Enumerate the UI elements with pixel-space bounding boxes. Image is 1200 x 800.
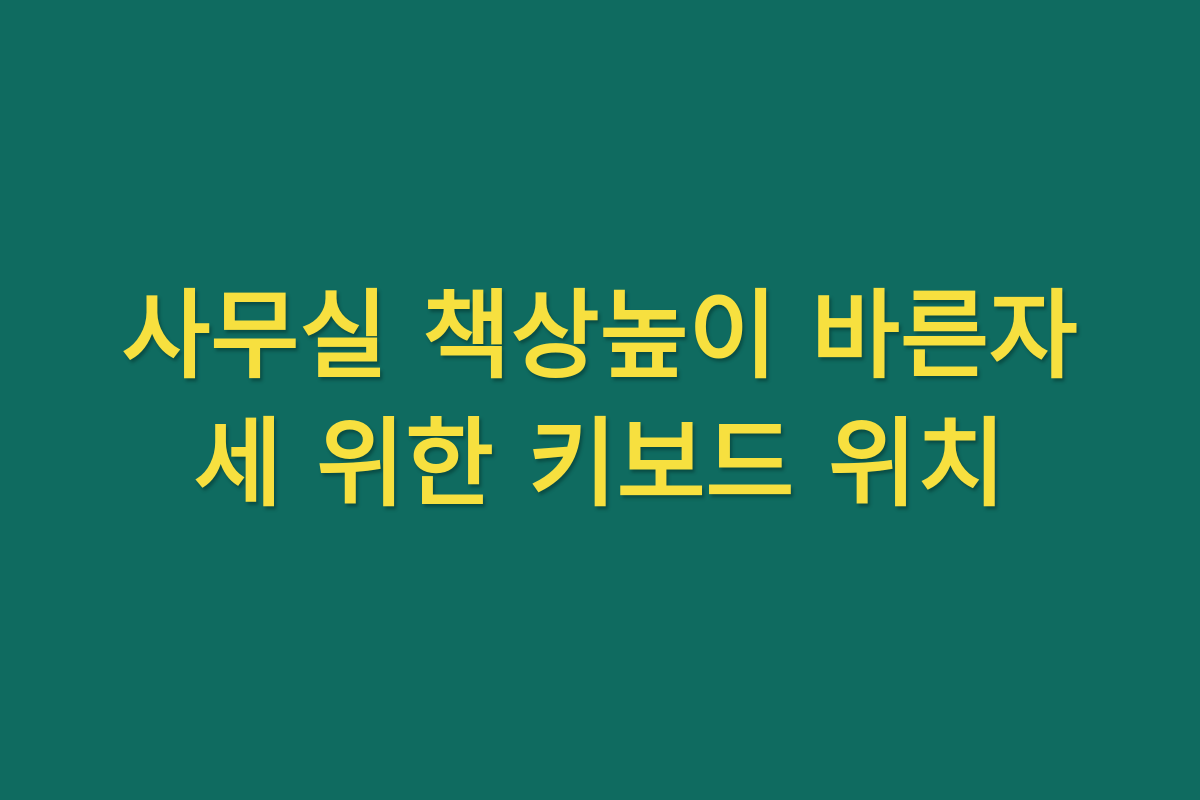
headline-line-2: 세 위한 키보드 위치 xyxy=(70,400,1130,528)
headline-text: 사무실 책상높이 바른자 세 위한 키보드 위치 xyxy=(70,272,1130,528)
text-banner: 사무실 책상높이 바른자 세 위한 키보드 위치 xyxy=(0,0,1200,800)
headline-line-1: 사무실 책상높이 바른자 xyxy=(70,272,1130,400)
